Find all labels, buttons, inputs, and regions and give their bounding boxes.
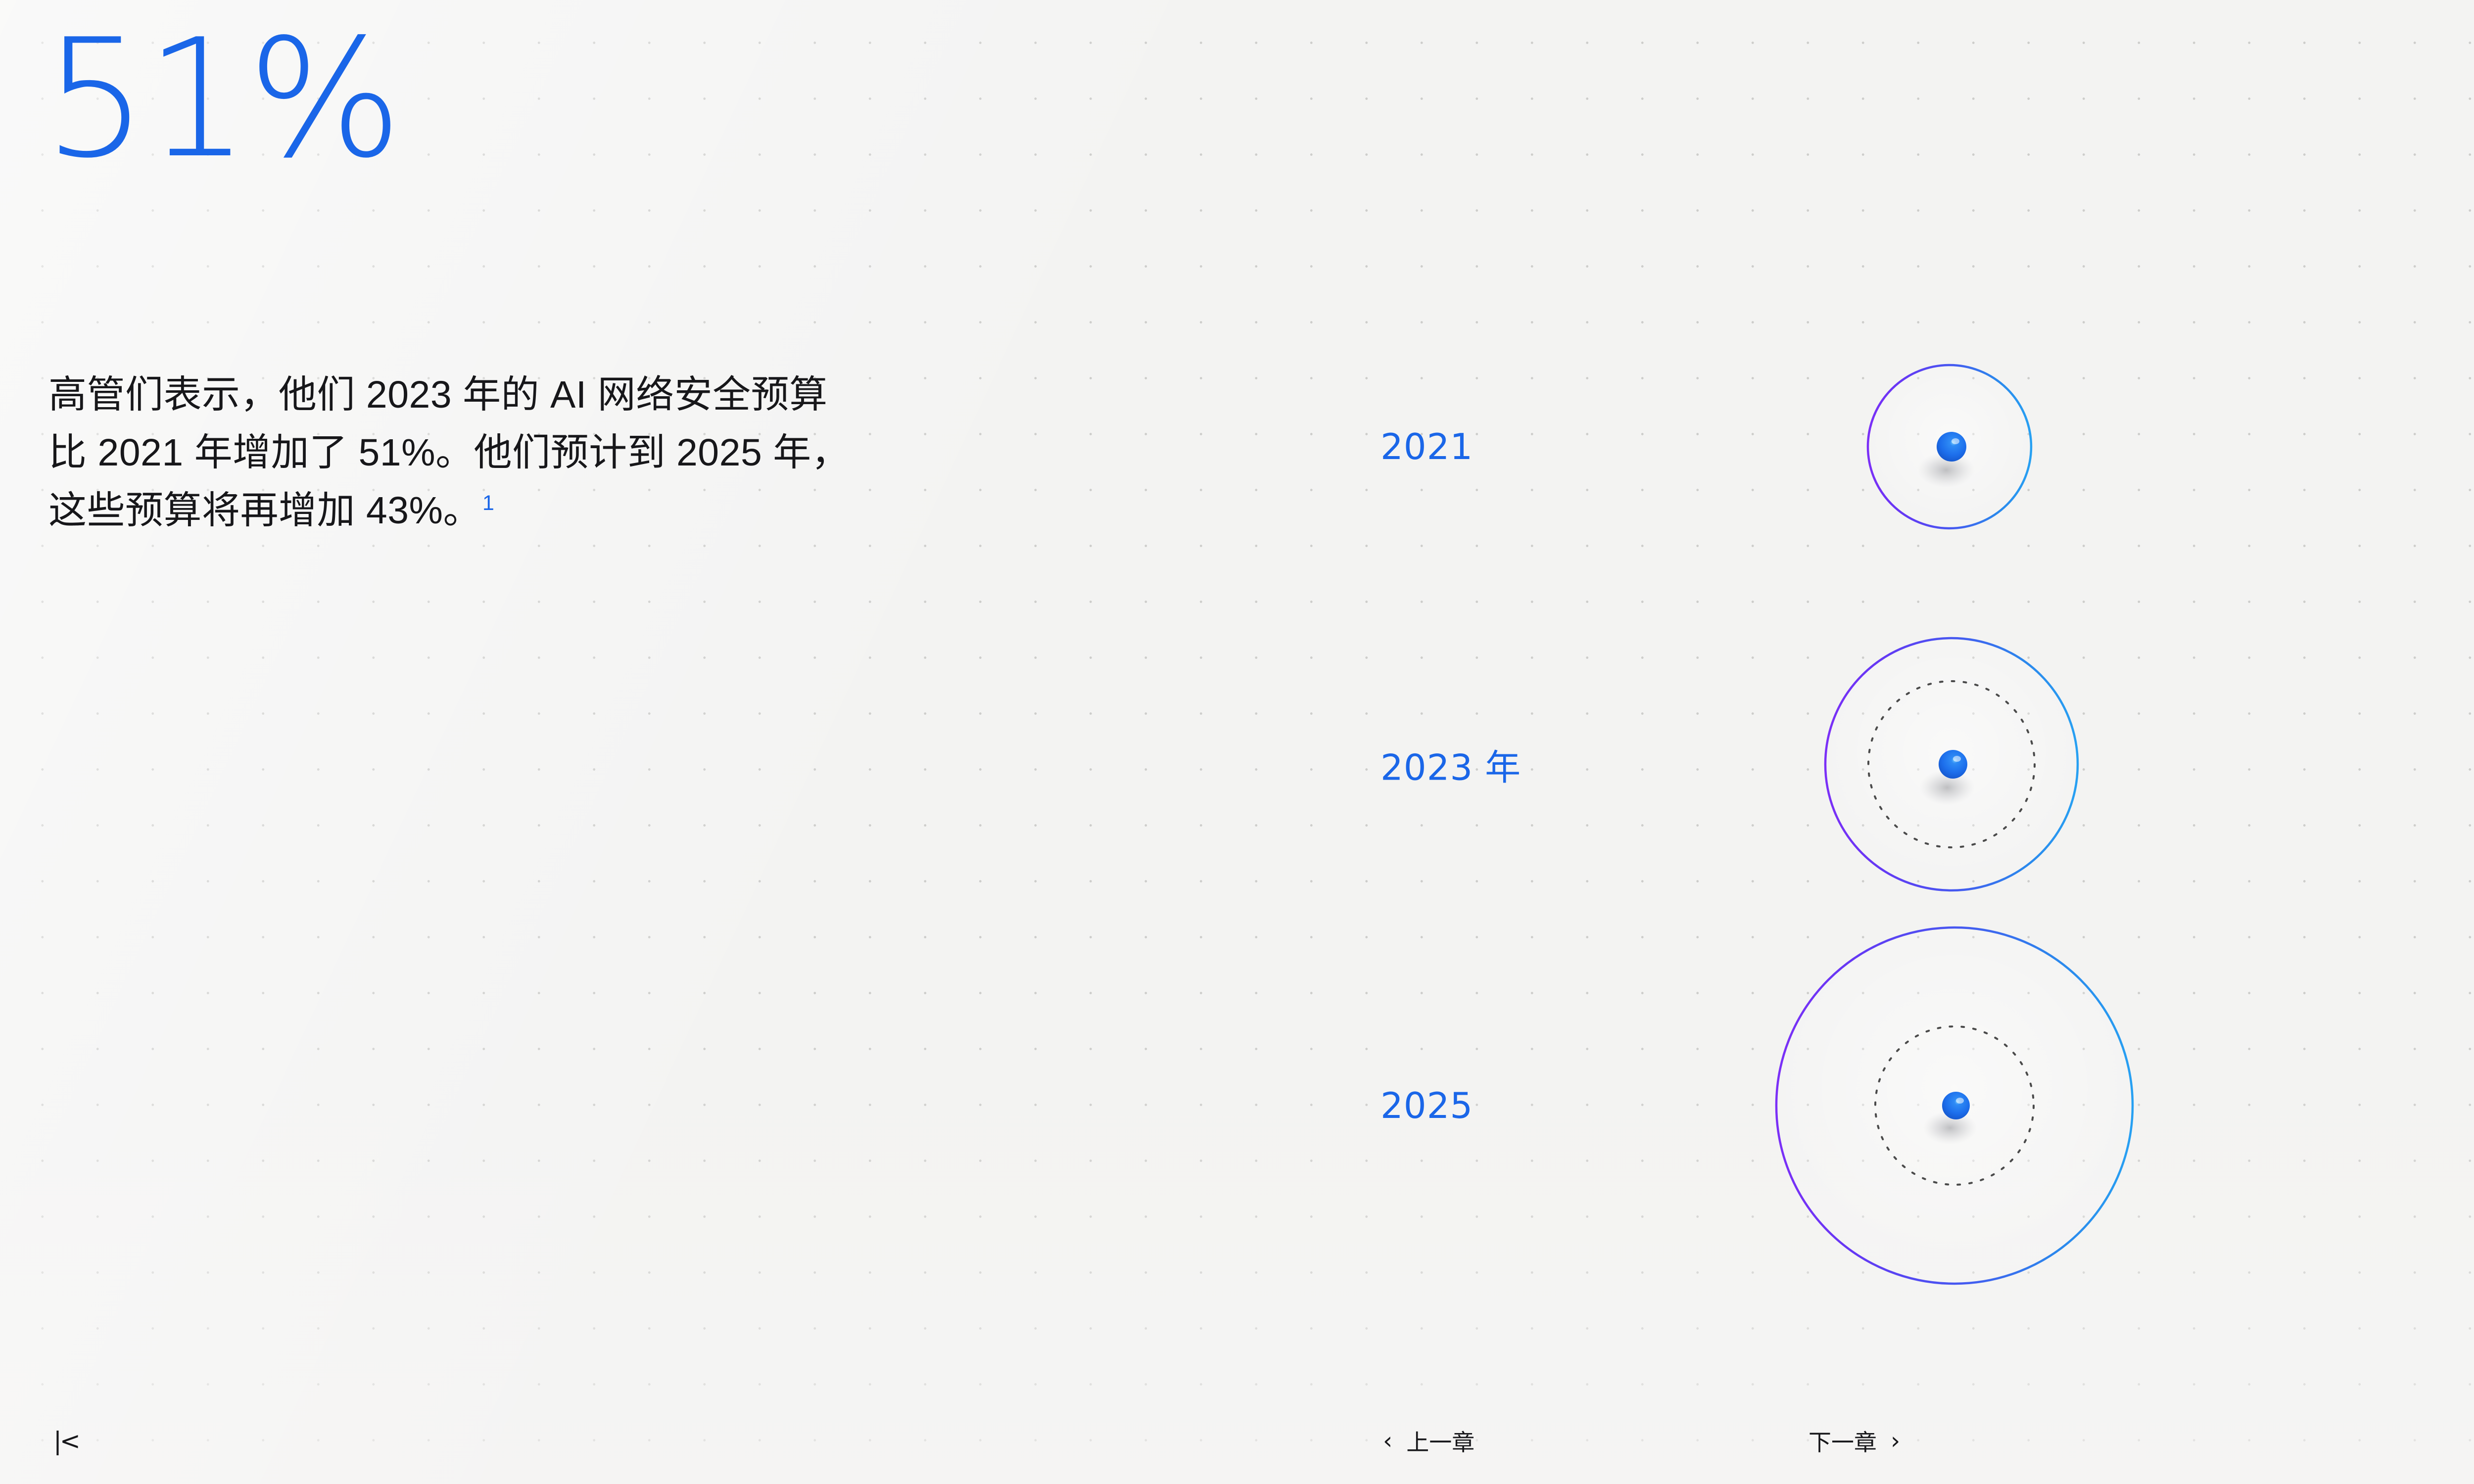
bubble-chart-svg — [1286, 237, 2326, 1350]
sphere-highlight-2023 — [1953, 756, 1961, 762]
sphere-highlight-2021 — [1951, 438, 1959, 444]
previous-chapter-label: 上一章 — [1406, 1425, 1475, 1457]
sphere-highlight-2025 — [1956, 1098, 1964, 1104]
bubble-label-2023[interactable]: 2023 年 — [1380, 739, 1521, 790]
go-to-first-page-button[interactable]: |< — [53, 1429, 79, 1453]
previous-chapter-button[interactable]: ‹ 上一章 — [1383, 1425, 1475, 1457]
value-sphere-2021 — [1937, 432, 1966, 462]
value-sphere-2023 — [1939, 750, 1967, 779]
first-page-icon: |< — [53, 1429, 79, 1453]
body-paragraph-text: 高管们表示，他们 2023 年的 AI 网络安全预算比 2021 年增加了 51… — [48, 373, 850, 532]
slide-canvas: 51% 高管们表示，他们 2023 年的 AI 网络安全预算比 2021 年增加… — [0, 0, 2474, 1484]
chevron-right-icon: › — [1891, 1429, 1900, 1453]
bubble-group-2021[interactable] — [1509, 365, 2031, 528]
footer-navigation: |< ‹ 上一章 下一章 › 8 — [0, 1397, 2474, 1484]
bubble-label-2025[interactable]: 2025 — [1380, 1085, 1473, 1126]
page-title: 51% — [44, 17, 400, 181]
bubble-label-2021[interactable]: 2021 — [1380, 426, 1473, 467]
body-paragraph: 高管们表示，他们 2023 年的 AI 网络安全预算比 2021 年增加了 51… — [48, 366, 855, 540]
chevron-left-icon: ‹ — [1383, 1429, 1392, 1453]
value-sphere-2025 — [1942, 1092, 1970, 1119]
next-chapter-label: 下一章 — [1808, 1425, 1877, 1457]
next-chapter-button[interactable]: 下一章 › — [1808, 1425, 1900, 1457]
footnote-reference[interactable]: 1 — [482, 491, 494, 515]
bubble-chart: 2021 2023 年 2025 — [1286, 237, 2326, 1350]
bubble-group-2025[interactable] — [1509, 927, 2133, 1284]
bubble-group-2023[interactable] — [1509, 638, 2078, 890]
